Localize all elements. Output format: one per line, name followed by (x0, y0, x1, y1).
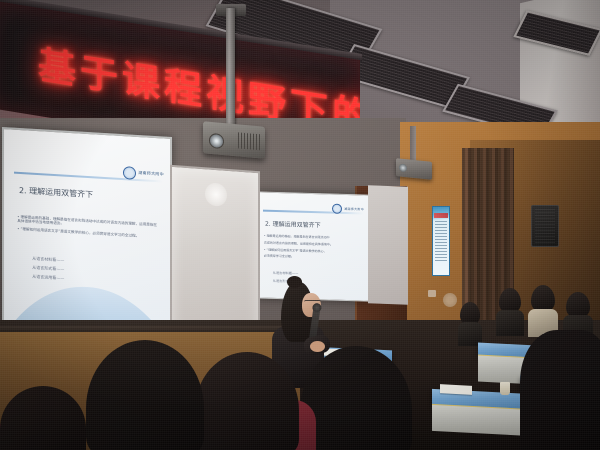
wall-clock (443, 293, 457, 307)
whiteboard-side-panel (368, 185, 408, 305)
torso (496, 310, 523, 336)
cup (500, 382, 510, 395)
projector-lens-icon (399, 163, 407, 172)
slide-logo-text: 湖南师大附中 (138, 170, 164, 178)
lecture-hall-photo: 基于课程视野下的学科核心素养 湖南师大附中 2. 理解运用双管齐下 • 理解是运… (0, 0, 600, 450)
head (531, 285, 555, 312)
slide-bullets: • 理解是运用的基础，理解是指在语言实践活动中 达成的对语言内涵的理解，运用是指… (264, 235, 363, 265)
slide-sub-items: 从语言材料看—— 从语言形式看—— 从语言运用看—— (32, 256, 160, 291)
projector-pole-secondary (410, 126, 416, 162)
slide-title: 2. 理解运用双管齐下 (19, 185, 93, 200)
poster-header-band (434, 213, 448, 218)
audience-member-seated (460, 302, 480, 344)
ceiling-projector-secondary (396, 158, 432, 180)
audience-member-seated (531, 285, 555, 335)
slide-title: 2. 理解运用双管齐下 (265, 219, 321, 230)
presenter-hand (310, 341, 325, 352)
head (566, 292, 590, 318)
audience-member-foreground-far-right (520, 330, 600, 450)
paper-sheet (440, 384, 472, 395)
projector-pole (226, 8, 235, 126)
whiteboard-panel (170, 165, 260, 341)
wall-speaker (531, 205, 559, 247)
slide-bullet: 必须贯穿学习全过程。 (264, 255, 363, 262)
slide-logo-text: 湖南师大附中 (344, 207, 364, 212)
wall-outlet (428, 290, 436, 297)
projector-lens-icon (209, 133, 224, 149)
whiteboard-glare (205, 182, 227, 207)
school-emblem-icon (123, 166, 136, 180)
slide-sub-item: 从语言材料看—— (273, 271, 363, 278)
slide-logo: 湖南师大附中 (332, 204, 364, 215)
slide-bullet: 达成的对语言内涵的理解，运用是指在具体语境中。 (264, 241, 363, 248)
presenter-hair-bun (287, 276, 302, 288)
slide-logo: 湖南师大附中 (123, 166, 164, 181)
wainscot-cap-rail (0, 326, 300, 332)
wall-poster (432, 206, 450, 276)
poster-text-lines (435, 221, 447, 261)
projector-vents (238, 132, 260, 150)
audience-member-seated (499, 288, 521, 334)
ceiling-projector (203, 121, 265, 158)
slide-bullets: • 理解是运用的基础，理解是指在语言实践活动中达成的对语言内涵的理解，运用是指在… (17, 215, 160, 243)
school-emblem-icon (332, 204, 342, 214)
projection-screen-secondary: 湖南师大附中 2. 理解运用双管齐下 • 理解是运用的基础，理解是指在语言实践活… (255, 191, 369, 301)
